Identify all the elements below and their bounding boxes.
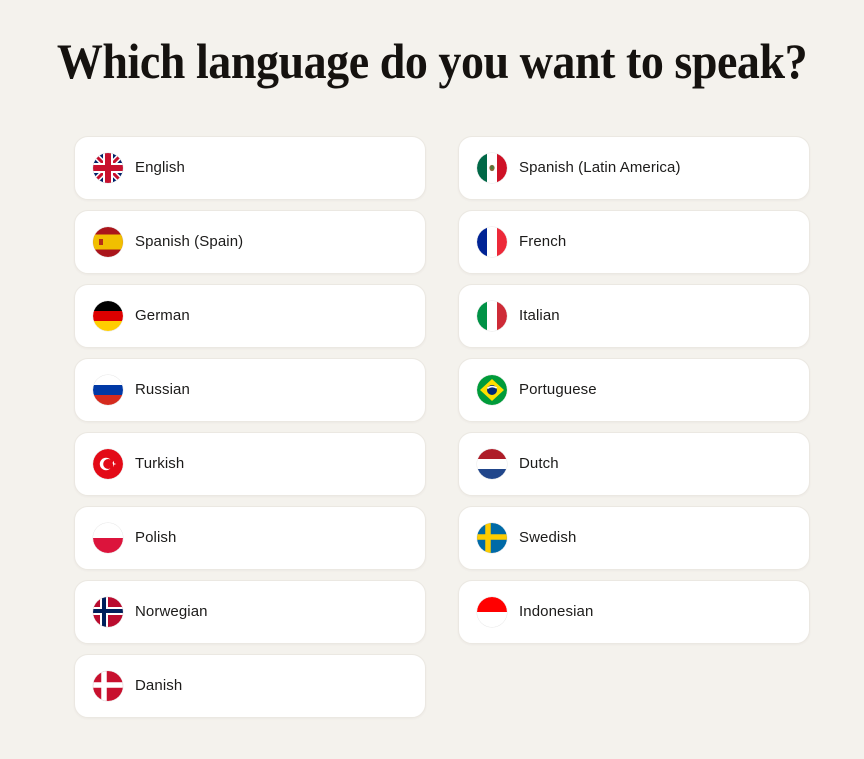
language-label: German bbox=[135, 306, 190, 326]
language-label: Russian bbox=[135, 380, 190, 400]
language-card[interactable]: Russian bbox=[74, 358, 426, 422]
flag-tr-icon bbox=[93, 449, 123, 479]
language-card[interactable]: German bbox=[74, 284, 426, 348]
flag-ru-icon bbox=[93, 375, 123, 405]
language-column-left: English Spanish (Spain) German Russian T… bbox=[74, 136, 426, 718]
flag-br-icon bbox=[477, 375, 507, 405]
language-label: Spanish (Latin America) bbox=[519, 158, 681, 178]
language-column-right: Spanish (Latin America) French Italian P… bbox=[458, 136, 810, 718]
language-label: Danish bbox=[135, 676, 182, 696]
language-card[interactable]: Norwegian bbox=[74, 580, 426, 644]
language-card[interactable]: Portuguese bbox=[458, 358, 810, 422]
language-card[interactable]: Swedish bbox=[458, 506, 810, 570]
language-label: Spanish (Spain) bbox=[135, 232, 243, 252]
flag-it-icon bbox=[477, 301, 507, 331]
language-label: Turkish bbox=[135, 454, 184, 474]
flag-id-icon bbox=[477, 597, 507, 627]
page-title: Which language do you want to speak? bbox=[35, 30, 830, 92]
language-card[interactable]: Italian bbox=[458, 284, 810, 348]
language-card[interactable]: Spanish (Latin America) bbox=[458, 136, 810, 200]
language-card[interactable]: English bbox=[74, 136, 426, 200]
language-card[interactable]: Polish bbox=[74, 506, 426, 570]
flag-dk-icon bbox=[93, 671, 123, 701]
flag-de-icon bbox=[93, 301, 123, 331]
language-label: French bbox=[519, 232, 566, 252]
flag-fr-icon bbox=[477, 227, 507, 257]
flag-es-icon bbox=[93, 227, 123, 257]
flag-gb-icon bbox=[93, 153, 123, 183]
language-label: English bbox=[135, 158, 185, 178]
language-label: Dutch bbox=[519, 454, 559, 474]
language-card[interactable]: Spanish (Spain) bbox=[74, 210, 426, 274]
language-card[interactable]: Indonesian bbox=[458, 580, 810, 644]
language-selection-page: Which language do you want to speak? Eng… bbox=[0, 0, 864, 759]
language-card[interactable]: Turkish bbox=[74, 432, 426, 496]
flag-mx-icon bbox=[477, 153, 507, 183]
language-label: Portuguese bbox=[519, 380, 597, 400]
language-label: Indonesian bbox=[519, 602, 593, 622]
language-label: Polish bbox=[135, 528, 176, 548]
language-card[interactable]: French bbox=[458, 210, 810, 274]
language-label: Norwegian bbox=[135, 602, 208, 622]
language-label: Swedish bbox=[519, 528, 576, 548]
flag-se-icon bbox=[477, 523, 507, 553]
flag-no-icon bbox=[93, 597, 123, 627]
language-grid: English Spanish (Spain) German Russian T… bbox=[74, 136, 810, 718]
flag-pl-icon bbox=[93, 523, 123, 553]
language-card[interactable]: Dutch bbox=[458, 432, 810, 496]
flag-nl-icon bbox=[477, 449, 507, 479]
language-card[interactable]: Danish bbox=[74, 654, 426, 718]
language-label: Italian bbox=[519, 306, 560, 326]
